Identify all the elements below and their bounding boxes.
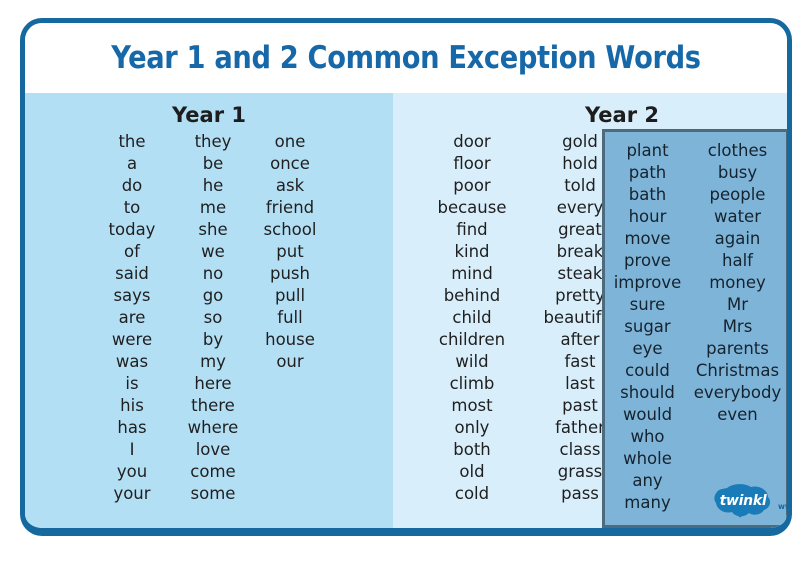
word-item: she bbox=[198, 219, 227, 241]
year1-panel: Year 1 theadototodayofsaidsaysarewerewas… bbox=[25, 93, 393, 528]
word-item: where bbox=[188, 417, 239, 439]
word-item: would bbox=[623, 404, 672, 426]
year1-word-columns: theadototodayofsaidsaysarewerewasishisha… bbox=[25, 131, 393, 505]
word-item: sugar bbox=[624, 316, 670, 338]
word-item: said bbox=[115, 263, 149, 285]
word-item: any bbox=[632, 470, 662, 492]
word-item: class bbox=[560, 439, 601, 461]
word-item: even bbox=[717, 404, 758, 426]
word-item: whole bbox=[623, 448, 672, 470]
year2-word-columns: doorfloorpoorbecausefindkindmindbehindch… bbox=[415, 131, 631, 505]
word-item: go bbox=[203, 285, 224, 307]
word-item: be bbox=[203, 153, 224, 175]
twinkl-url: www.twinkl.co.uk bbox=[778, 502, 792, 518]
word-panels: Year 1 theadototodayofsaidsaysarewerewas… bbox=[25, 93, 787, 528]
twinkl-cloud-icon: twinkl bbox=[713, 484, 773, 518]
word-item: hold bbox=[562, 153, 598, 175]
word-item: bath bbox=[629, 184, 667, 206]
word-item: you bbox=[117, 461, 147, 483]
year2-highlight-column-2: clothesbusypeoplewateragainhalfmoneyMrMr… bbox=[690, 140, 786, 514]
word-item: push bbox=[270, 263, 310, 285]
word-item: pull bbox=[275, 285, 305, 307]
word-item: a bbox=[127, 153, 137, 175]
word-item: only bbox=[455, 417, 490, 439]
twinkl-wordmark: twinkl bbox=[713, 484, 773, 518]
word-item: house bbox=[265, 329, 315, 351]
word-item: grass bbox=[558, 461, 603, 483]
word-item: busy bbox=[718, 162, 757, 184]
word-item: eye bbox=[632, 338, 662, 360]
word-item: mind bbox=[451, 263, 493, 285]
word-item: we bbox=[201, 241, 225, 263]
word-item: break bbox=[557, 241, 604, 263]
word-item: water bbox=[714, 206, 761, 228]
word-item: hour bbox=[629, 206, 667, 228]
word-item: of bbox=[124, 241, 140, 263]
word-item: behind bbox=[444, 285, 501, 307]
year2-column-1: doorfloorpoorbecausefindkindmindbehindch… bbox=[415, 131, 529, 505]
word-item: to bbox=[124, 197, 141, 219]
year1-heading: Year 1 bbox=[25, 103, 393, 127]
word-item: he bbox=[203, 175, 224, 197]
word-item: some bbox=[191, 483, 236, 505]
word-item: has bbox=[117, 417, 146, 439]
word-item: Mrs bbox=[723, 316, 753, 338]
word-item: today bbox=[109, 219, 156, 241]
word-item: do bbox=[122, 175, 143, 197]
word-item: Christmas bbox=[696, 360, 779, 382]
year2-panel: Year 2 doorfloorpoorbecausefindkindmindb… bbox=[393, 93, 787, 528]
year2-highlight-word-columns: plantpathbathhourmoveproveimprovesuresug… bbox=[605, 140, 786, 514]
word-item: because bbox=[437, 197, 506, 219]
year1-column-2: theybehemeshewenogosobymyheretherewherel… bbox=[178, 131, 248, 505]
word-item: old bbox=[459, 461, 484, 483]
word-item: children bbox=[439, 329, 505, 351]
year2-heading: Year 2 bbox=[557, 103, 687, 127]
word-item: so bbox=[204, 307, 223, 329]
word-item: could bbox=[625, 360, 670, 382]
word-item: father bbox=[555, 417, 605, 439]
word-item: gold bbox=[562, 131, 598, 153]
word-item: many bbox=[624, 492, 670, 514]
word-item: were bbox=[112, 329, 152, 351]
word-item: my bbox=[200, 351, 226, 373]
word-item: improve bbox=[614, 272, 682, 294]
word-item: friend bbox=[266, 197, 314, 219]
word-item: full bbox=[277, 307, 302, 329]
word-item: after bbox=[560, 329, 599, 351]
word-item: climb bbox=[450, 373, 495, 395]
word-item: put bbox=[276, 241, 303, 263]
word-item: great bbox=[558, 219, 602, 241]
word-item: money bbox=[709, 272, 766, 294]
year2-highlight-box: plantpathbathhourmoveproveimprovesuresug… bbox=[602, 129, 789, 528]
poster-container: Year 1 and 2 Common Exception Words Year… bbox=[20, 18, 792, 536]
word-item: one bbox=[275, 131, 306, 153]
word-item: me bbox=[200, 197, 226, 219]
word-item: his bbox=[120, 395, 144, 417]
word-item: love bbox=[196, 439, 231, 461]
word-item: your bbox=[113, 483, 150, 505]
word-item: fast bbox=[565, 351, 596, 373]
word-item: pass bbox=[561, 483, 599, 505]
word-item: is bbox=[125, 373, 138, 395]
word-item: prove bbox=[624, 250, 671, 272]
word-item: plant bbox=[626, 140, 668, 162]
word-item: most bbox=[451, 395, 492, 417]
title-band: Year 1 and 2 Common Exception Words bbox=[25, 23, 787, 93]
word-item: cold bbox=[455, 483, 489, 505]
word-item: kind bbox=[454, 241, 489, 263]
word-item: pretty bbox=[555, 285, 605, 307]
word-item: come bbox=[190, 461, 235, 483]
word-item: told bbox=[564, 175, 596, 197]
word-item: should bbox=[620, 382, 675, 404]
word-item: are bbox=[119, 307, 146, 329]
word-item: sure bbox=[630, 294, 666, 316]
word-item: every bbox=[557, 197, 604, 219]
word-item: child bbox=[452, 307, 491, 329]
word-item: once bbox=[270, 153, 310, 175]
word-item: poor bbox=[453, 175, 490, 197]
page-title: Year 1 and 2 Common Exception Words bbox=[111, 40, 700, 76]
word-item: move bbox=[624, 228, 670, 250]
word-item: no bbox=[203, 263, 224, 285]
word-item: last bbox=[565, 373, 595, 395]
word-item: clothes bbox=[708, 140, 767, 162]
word-item: was bbox=[116, 351, 148, 373]
word-item: ask bbox=[276, 175, 304, 197]
word-item: who bbox=[630, 426, 664, 448]
word-item: people bbox=[710, 184, 766, 206]
word-item: find bbox=[456, 219, 487, 241]
word-item: says bbox=[113, 285, 150, 307]
word-item: parents bbox=[706, 338, 769, 360]
year2-highlight-column-1: plantpathbathhourmoveproveimprovesuresug… bbox=[606, 140, 690, 514]
word-item: here bbox=[194, 373, 231, 395]
word-item: floor bbox=[453, 153, 490, 175]
word-item: I bbox=[130, 439, 135, 461]
word-item: wild bbox=[455, 351, 488, 373]
word-item: again bbox=[715, 228, 761, 250]
word-item: by bbox=[203, 329, 223, 351]
word-item: steak bbox=[558, 263, 603, 285]
word-item: half bbox=[722, 250, 753, 272]
word-item: everybody bbox=[694, 382, 781, 404]
word-item: there bbox=[191, 395, 235, 417]
word-item: past bbox=[562, 395, 598, 417]
word-item: our bbox=[276, 351, 303, 373]
word-item: door bbox=[453, 131, 490, 153]
word-item: they bbox=[195, 131, 232, 153]
year1-column-3: oneonceaskfriendschoolputpushpullfullhou… bbox=[248, 131, 332, 505]
word-item: path bbox=[629, 162, 667, 184]
word-item: school bbox=[264, 219, 317, 241]
word-item: Mr bbox=[727, 294, 748, 316]
year1-column-1: theadototodayofsaidsaysarewerewasishisha… bbox=[86, 131, 178, 505]
twinkl-branding: twinkl www.twinkl.co.uk bbox=[713, 484, 792, 518]
word-item: both bbox=[453, 439, 491, 461]
word-item: the bbox=[118, 131, 145, 153]
